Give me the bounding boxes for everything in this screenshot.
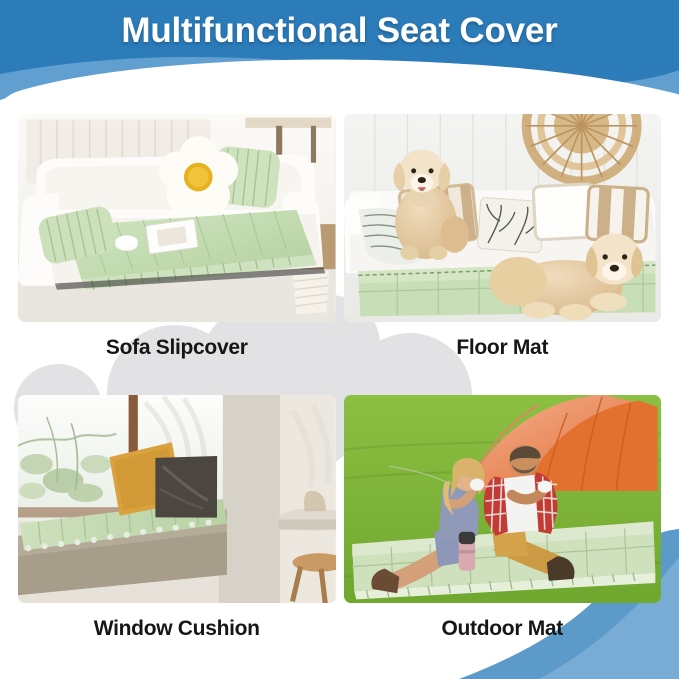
caption-sofa-slipcover: Sofa Slipcover <box>106 336 248 360</box>
photo-outdoor-mat[interactable] <box>344 395 662 603</box>
product-use-grid: Sofa Slipcover <box>0 108 679 679</box>
caption-floor-mat: Floor Mat <box>456 336 548 360</box>
grid-cell-outdoor-mat[interactable]: Outdoor Mat <box>344 395 662 670</box>
header-banner: Multifunctional Seat Cover <box>0 0 679 108</box>
photo-sofa-slipcover[interactable] <box>18 114 336 322</box>
photo-window-cushion[interactable] <box>18 395 336 603</box>
product-infographic: Multifunctional Seat Cover <box>0 0 679 679</box>
grid-cell-window-cushion[interactable]: Window Cushion <box>18 395 336 670</box>
grid-cell-floor-mat[interactable]: Floor Mat <box>344 114 662 389</box>
page-title: Multifunctional Seat Cover <box>0 11 679 51</box>
caption-window-cushion: Window Cushion <box>94 617 260 641</box>
photo-floor-mat[interactable] <box>344 114 662 322</box>
grid-cell-sofa-slipcover[interactable]: Sofa Slipcover <box>18 114 336 389</box>
caption-outdoor-mat: Outdoor Mat <box>441 617 563 641</box>
